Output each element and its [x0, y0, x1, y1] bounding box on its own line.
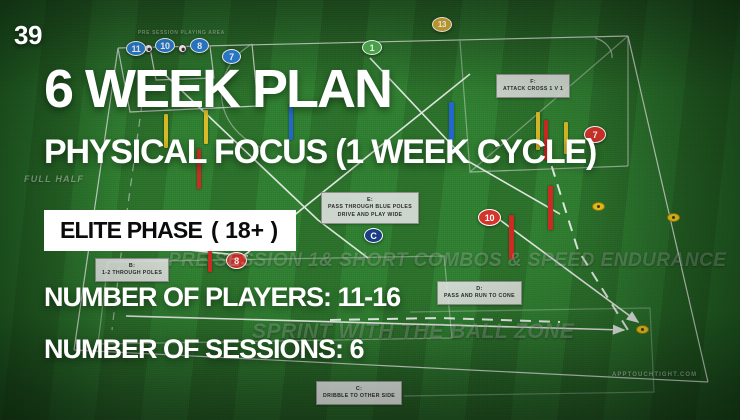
elite-phase-label: ELITE PHASE: [60, 219, 202, 242]
slide-canvas: 11 10 8 7 1 13 7 10 8 C PRE SESSION PLAY…: [0, 0, 740, 420]
sessions-count-line: NUMBER OF SESSIONS: 6: [44, 336, 364, 363]
players-count-line: NUMBER OF PLAYERS: 11-16: [44, 284, 400, 311]
elite-phase-badge: ELITE PHASE ( 18+ ): [44, 210, 296, 251]
page-subtitle: PHYSICAL FOCUS (1 WEEK CYCLE): [44, 135, 596, 169]
page-title: 6 WEEK PLAN: [44, 62, 391, 116]
elite-phase-age: ( 18+ ): [202, 219, 278, 242]
slide-number: 39: [14, 20, 42, 51]
